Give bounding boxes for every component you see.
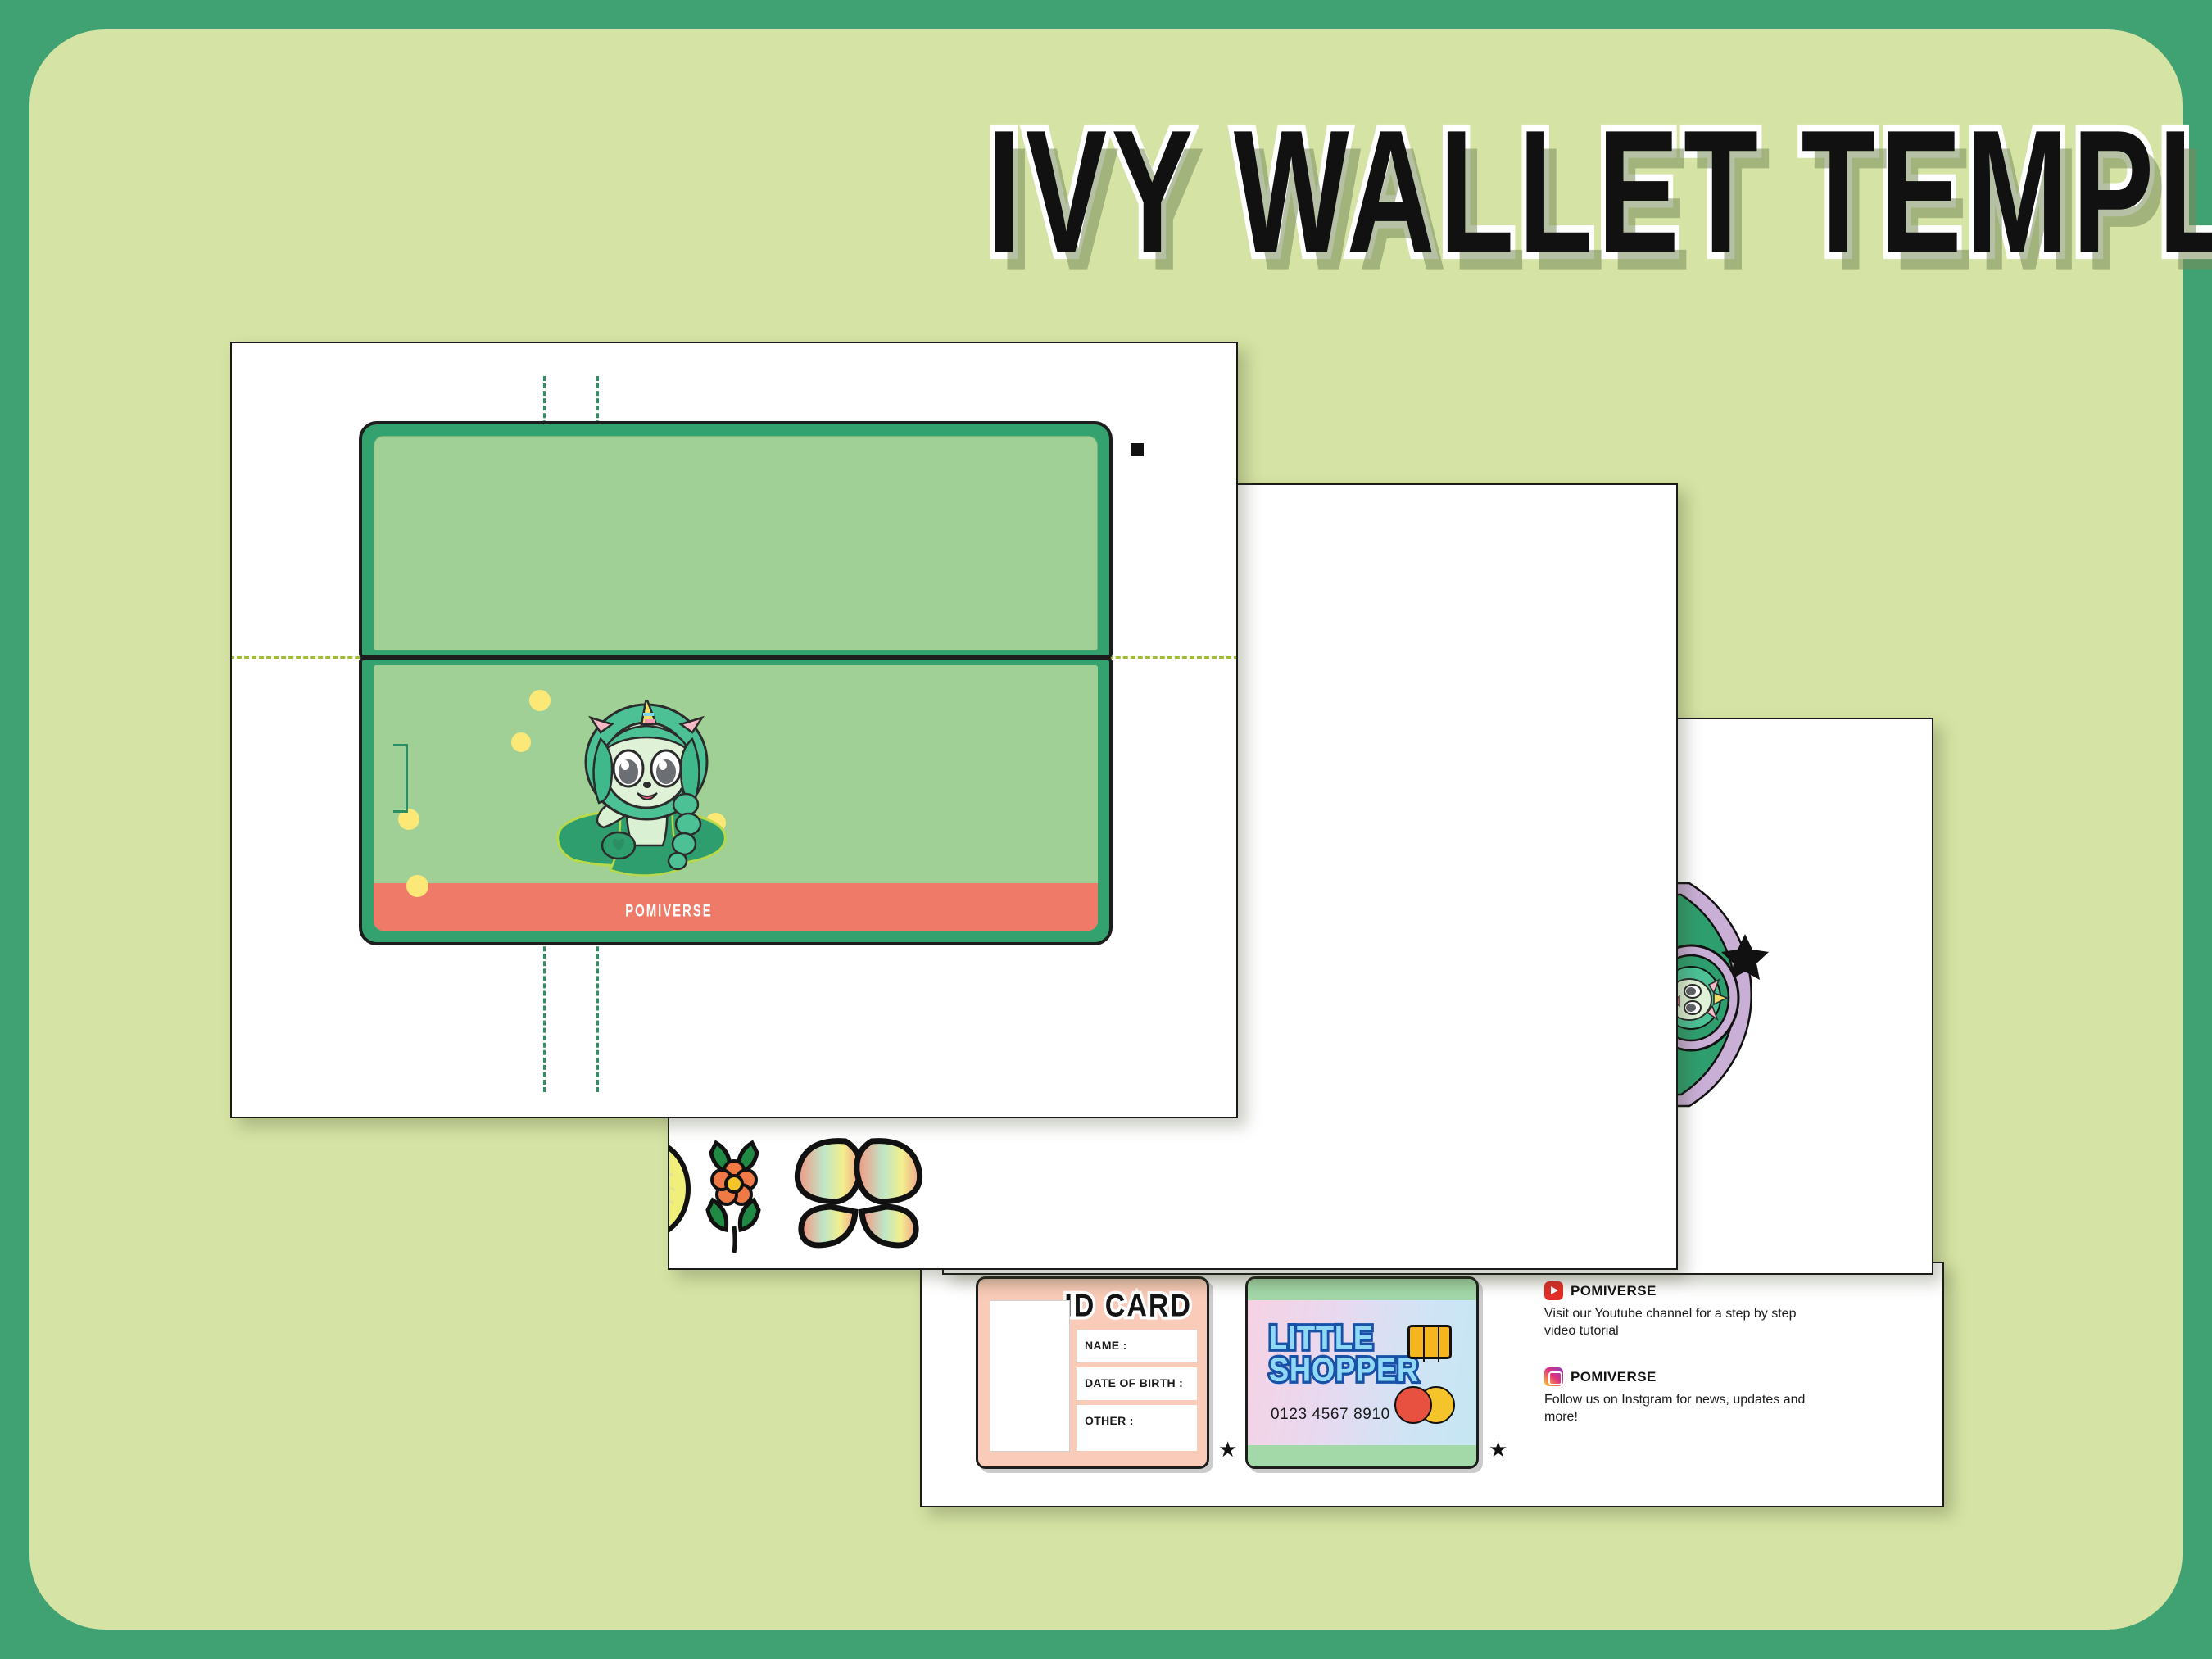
sheet-wallet-body: POMIVERSE (230, 342, 1238, 1118)
social-head-instagram: POMIVERSE (1544, 1367, 1815, 1386)
credit-card-title: LITTLE SHOPPER (1269, 1321, 1419, 1386)
credit-card-band-bottom (1248, 1445, 1476, 1466)
fold-bracket-mark (393, 744, 408, 813)
poster-canvas: IVY WALLET TEMPLATES (0, 0, 2212, 1659)
youtube-icon (1544, 1281, 1563, 1300)
wallet-accent-strip (374, 883, 1098, 931)
wallet-panel-top (359, 421, 1113, 659)
wallet-panel-top-fill (374, 436, 1098, 650)
page-title: IVY WALLET TEMPLATES (885, 105, 2163, 261)
credit-card-title-line2: SHOPPER (1269, 1351, 1419, 1389)
id-card-title: ID CARD (1064, 1288, 1192, 1325)
instagram-handle: POMIVERSE (1571, 1369, 1657, 1385)
wallet-panel-bottom-fill: POMIVERSE (374, 665, 1098, 931)
youtube-handle: POMIVERSE (1571, 1283, 1657, 1299)
id-card-field-other[interactable]: OTHER : (1077, 1405, 1197, 1451)
sticker-set (668, 1130, 952, 1270)
ivy-unicorn-illustration (542, 700, 755, 888)
page-title-text: IVY WALLET TEMPLATES (987, 105, 2163, 280)
flower-leaves-sticker (708, 1143, 759, 1253)
social-row-youtube[interactable]: POMIVERSE Visit our Youtube channel for … (1544, 1281, 1815, 1339)
credit-card-template: LITTLE SHOPPER 0123 4567 8910 (1245, 1276, 1479, 1469)
id-card-field-dob[interactable]: DATE OF BIRTH : (1077, 1367, 1197, 1400)
social-head-youtube: POMIVERSE (1544, 1281, 1815, 1300)
credit-card-band-top (1248, 1279, 1476, 1300)
bubble-decor-6 (406, 875, 428, 897)
youtube-description: Visit our Youtube channel for a step by … (1544, 1305, 1815, 1339)
id-card-field-name[interactable]: NAME : (1077, 1330, 1197, 1362)
butterfly-sticker (797, 1141, 919, 1245)
brand-label: POMIVERSE (625, 901, 712, 922)
instagram-icon (1544, 1367, 1563, 1386)
wallet-panel-bottom: POMIVERSE (359, 657, 1113, 945)
social-row-instagram[interactable]: POMIVERSE Follow us on Instgram for news… (1544, 1367, 1815, 1426)
sheet-cards-info: ID CARD NAME : DATE OF BIRTH : OTHER : ★… (920, 1262, 1944, 1507)
emv-chip-icon (1407, 1325, 1452, 1359)
credit-card-number: 0123 4567 8910 (1271, 1406, 1390, 1424)
mastercard-icon (1394, 1386, 1455, 1424)
yellow-leaf-sticker (668, 1141, 688, 1236)
social-info-block: POMIVERSE Visit our Youtube channel for … (1544, 1281, 1815, 1453)
id-card-photo-box (990, 1300, 1070, 1452)
cut-star-1: ★ (1218, 1439, 1240, 1460)
instagram-description: Follow us on Instgram for news, updates … (1544, 1391, 1815, 1426)
registration-mark-top-right (1131, 443, 1144, 456)
bubble-decor-2 (511, 732, 531, 752)
mastercard-circle-red (1394, 1386, 1432, 1424)
cut-star-2: ★ (1489, 1439, 1510, 1460)
id-card-template: ID CARD NAME : DATE OF BIRTH : OTHER : (976, 1276, 1209, 1469)
